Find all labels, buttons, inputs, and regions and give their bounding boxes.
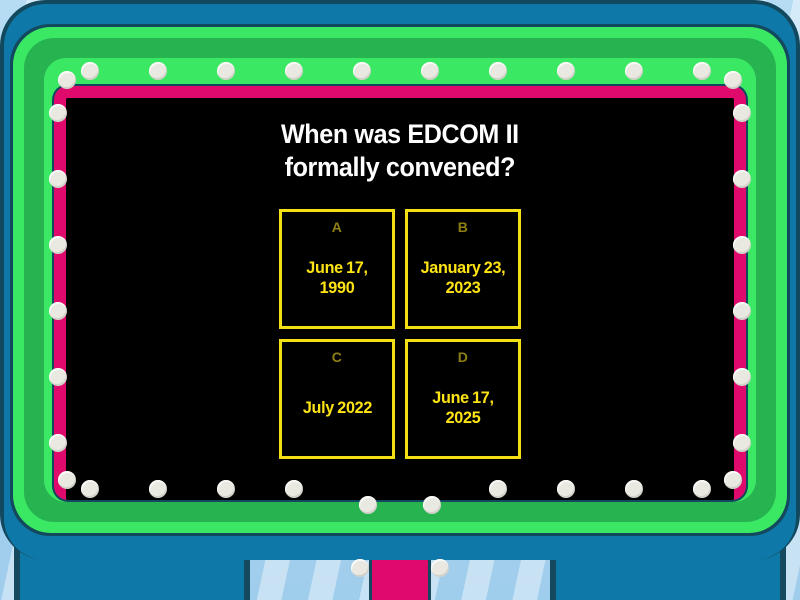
marquee-bulb	[353, 62, 371, 80]
answer-option-c[interactable]: C July 2022	[279, 339, 395, 459]
marquee-bulb	[49, 236, 67, 254]
marquee-bulb	[149, 62, 167, 80]
answer-option-d[interactable]: D June 17, 2025	[405, 339, 521, 459]
marquee-bulb	[217, 62, 235, 80]
marquee-bulb	[81, 62, 99, 80]
marquee-bulb	[351, 559, 369, 577]
answer-text-d: June 17, 2025	[416, 388, 511, 428]
marquee-bulb	[421, 62, 439, 80]
marquee-bulb	[733, 104, 751, 122]
marquee-bulb	[489, 62, 507, 80]
answer-body-b: January 23, 2023	[408, 230, 518, 326]
marquee-bulb	[49, 434, 67, 452]
marquee-bulb	[285, 62, 303, 80]
answer-text-a: June 17, 1990	[290, 258, 385, 298]
marquee-bulb	[431, 559, 449, 577]
question-line-2: formally convened?	[281, 151, 519, 184]
answer-body-a: June 17, 1990	[282, 230, 392, 326]
marquee-bulb	[693, 62, 711, 80]
answer-option-b[interactable]: B January 23, 2023	[405, 209, 521, 329]
marquee-bulb	[49, 104, 67, 122]
quiz-game-screen: When was EDCOM II formally convened? A J…	[0, 0, 800, 600]
marquee-bulb	[733, 434, 751, 452]
marquee-bulb	[49, 170, 67, 188]
answer-body-c: July 2022	[282, 360, 392, 456]
marquee-bulb	[733, 302, 751, 320]
answer-text-b: January 23, 2023	[416, 258, 511, 298]
question-line-1: When was EDCOM II	[281, 118, 519, 151]
answer-text-c: July 2022	[302, 398, 371, 418]
marquee-bulb	[49, 302, 67, 320]
question-title: When was EDCOM II formally convened?	[281, 118, 519, 184]
answer-body-d: June 17, 2025	[408, 360, 518, 456]
marquee-bulb	[733, 170, 751, 188]
screen-content: When was EDCOM II formally convened? A J…	[66, 98, 734, 500]
marquee-bulb	[49, 368, 67, 386]
marquee-bulb	[625, 62, 643, 80]
marquee-bulb	[733, 236, 751, 254]
marquee-bulb	[733, 368, 751, 386]
answer-options-grid: A June 17, 1990 B January 23, 2023 C Jul…	[279, 209, 521, 459]
marquee-bulb	[557, 62, 575, 80]
marquee-bulb	[724, 71, 742, 89]
answer-option-a[interactable]: A June 17, 1990	[279, 209, 395, 329]
